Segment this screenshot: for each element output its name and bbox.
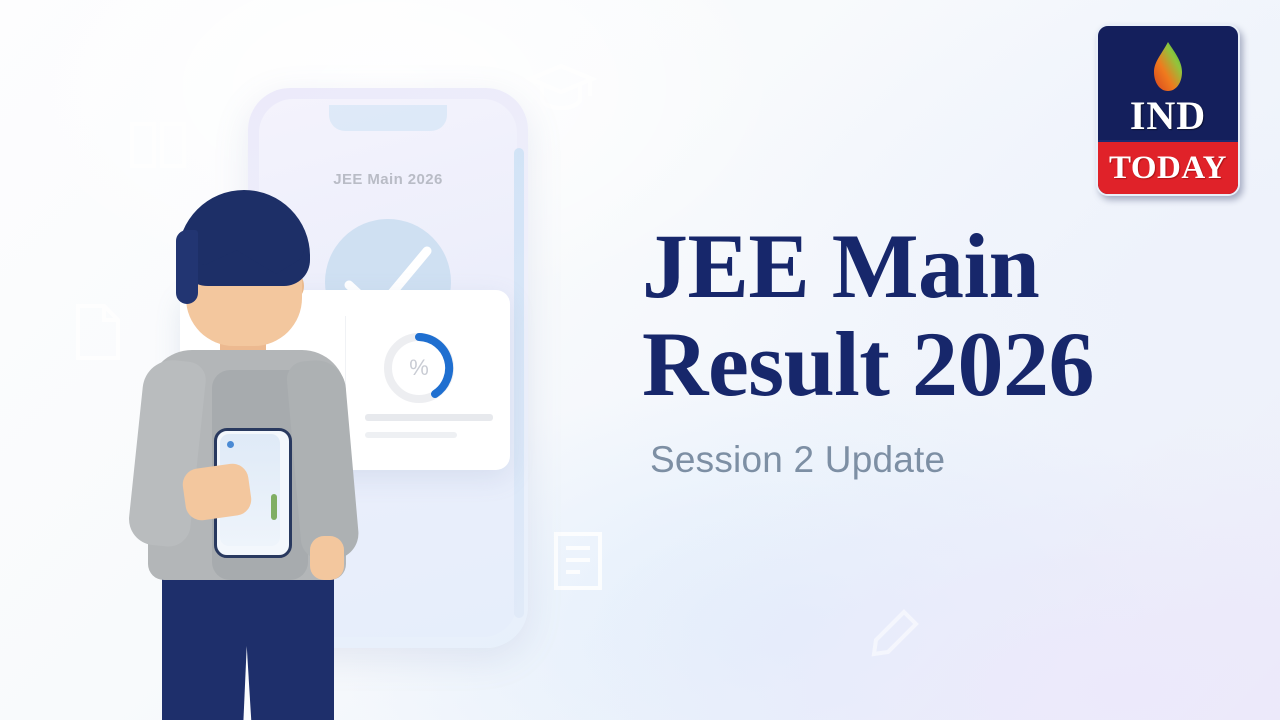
headline-subtitle: Session 2 Update <box>650 439 1242 481</box>
character-hair-side <box>176 230 198 304</box>
headline-block: JEE Main Result 2026 Session 2 Update <box>642 218 1242 481</box>
character-right-hand <box>310 536 344 580</box>
flame-icon <box>1150 40 1186 99</box>
document-icon <box>72 302 124 362</box>
logo-bottom-text: TODAY <box>1109 150 1227 187</box>
ind-today-logo[interactable]: IND TODAY <box>1096 24 1240 196</box>
held-phone-camera-dot <box>227 441 234 448</box>
percent-symbol: % <box>381 330 457 406</box>
headline-line-1: JEE Main <box>642 218 1242 316</box>
phone-edge-highlight <box>514 148 524 618</box>
promo-banner: JEE Main 2026 <box>0 0 1280 720</box>
logo-top-text: IND <box>1098 96 1238 136</box>
pencil-icon <box>866 606 922 662</box>
held-phone-accent <box>271 494 277 520</box>
character-left-hand <box>181 462 254 523</box>
student-character <box>128 178 378 720</box>
card-text-line-4 <box>365 432 457 438</box>
card-text-line-3 <box>365 414 493 421</box>
donut-progress-icon: % <box>381 330 457 406</box>
illustration: JEE Main 2026 <box>120 60 620 720</box>
headline-line-2: Result 2026 <box>642 316 1242 414</box>
logo-red-band: TODAY <box>1098 140 1238 194</box>
phone-notch <box>329 105 447 131</box>
